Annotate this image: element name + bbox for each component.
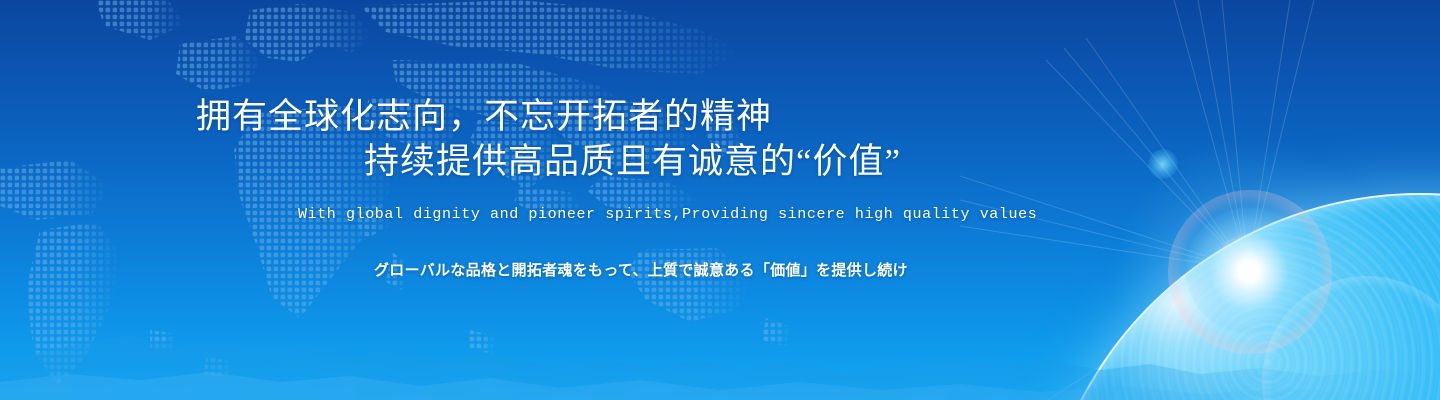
hero-banner: 拥有全球化志向，不忘开拓者的精神 持续提供高品质且有诚意的“价值” With g… <box>0 0 1440 400</box>
banner-text-layer: 拥有全球化志向，不忘开拓者的精神 持续提供高品质且有诚意的“价值” With g… <box>0 0 1440 400</box>
subtitle-english: With global dignity and pioneer spirits,… <box>298 206 1037 223</box>
headline-line-2: 持续提供高品质且有诚意的“价值” <box>364 133 901 184</box>
headline-line-1: 拥有全球化志向，不忘开拓者的精神 <box>196 88 772 139</box>
subtitle-japanese: グローバルな品格と開拓者魂をもって、上質で誠意ある「価値」を提供し続け <box>374 259 908 280</box>
